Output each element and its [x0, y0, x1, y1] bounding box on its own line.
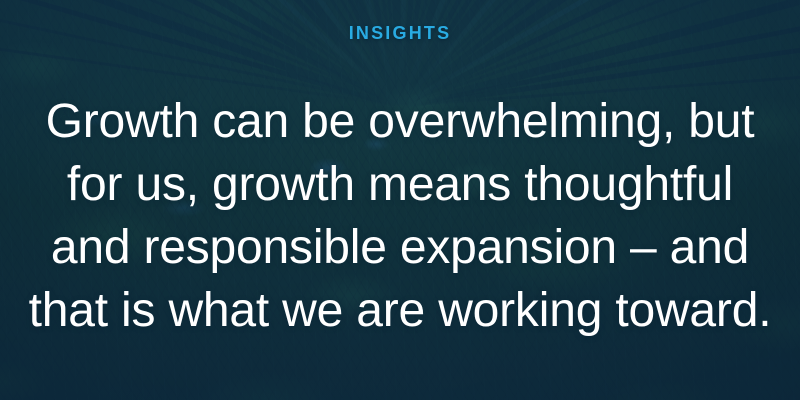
headline-line-4: that is what we are working toward.	[5, 279, 795, 342]
headline-line-1: Growth can be overwhelming, but	[5, 90, 795, 153]
headline-line-2: for us, growth means thoughtful	[5, 153, 795, 216]
eyebrow-label: INSIGHTS	[349, 24, 452, 42]
insights-quote-banner: INSIGHTS Growth can be overwhelming, but…	[0, 0, 800, 400]
headline-line-3: and responsible expansion – and	[5, 216, 795, 279]
quote-headline: Growth can be overwhelming, but for us, …	[5, 90, 795, 342]
banner-content: INSIGHTS Growth can be overwhelming, but…	[0, 0, 800, 400]
